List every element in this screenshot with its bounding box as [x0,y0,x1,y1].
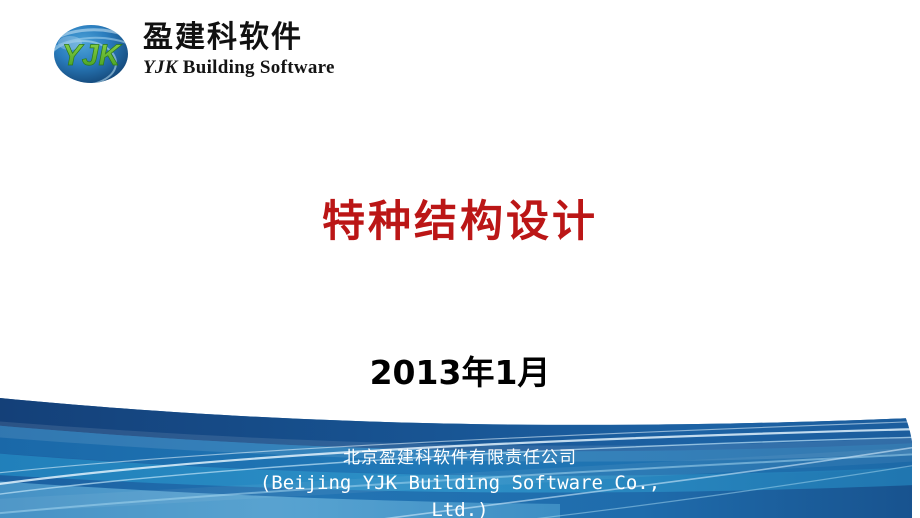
page-title: 特种结构设计 [0,196,920,248]
brand-name-cn: 盈建科软件 [143,20,375,56]
footer-company-block: 北京盈建科软件有限责任公司 (Beijing YJK Building Soft… [0,446,920,518]
footer-company-en-line2: Ltd.) [0,497,920,518]
yjk-oval-logo-icon: YJK [52,23,130,85]
brand-logo: YJK 盈建科软件 YJK Building Software [45,18,375,88]
brand-wordmark: 盈建科软件 YJK Building Software [143,20,375,84]
yjk-logo-letters: YJK [62,39,123,72]
brand-abbr-en: YJK [143,57,178,78]
footer-company-cn: 北京盈建科软件有限责任公司 [0,446,920,470]
slide-canvas: YJK 盈建科软件 YJK Building Software 特种结构设计 2… [0,0,920,518]
brand-tagline-en: Building Software [183,57,335,78]
footer-company-en-line1: (Beijing YJK Building Software Co., [0,470,920,497]
brand-name-en: YJK Building Software [143,56,375,80]
